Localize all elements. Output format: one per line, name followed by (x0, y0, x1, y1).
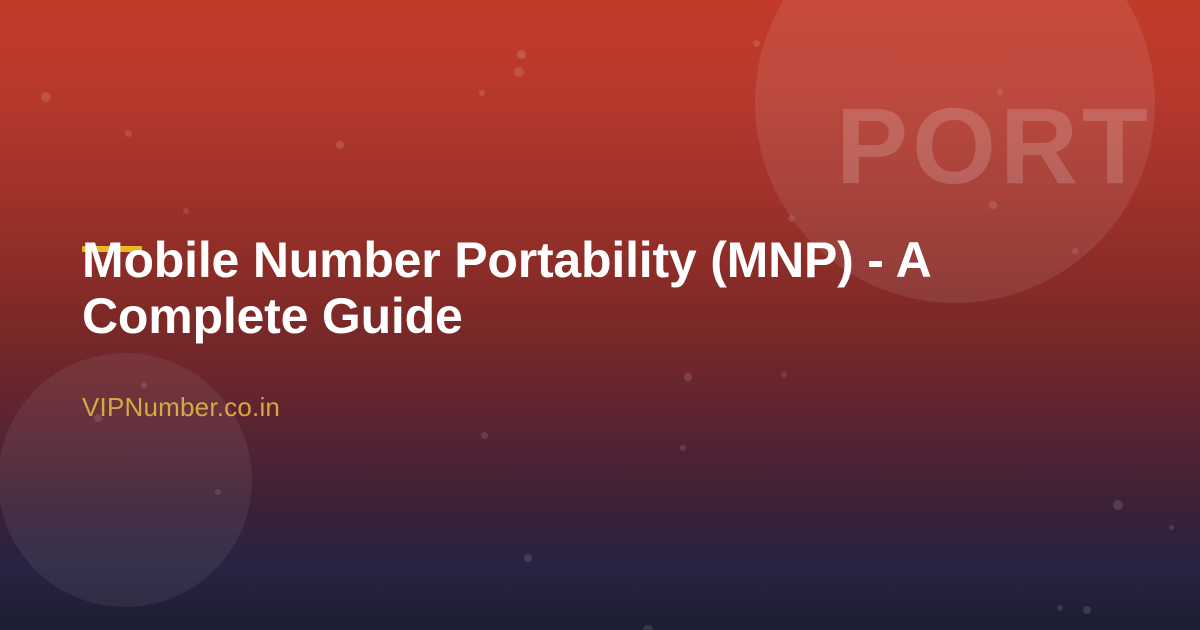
particle-dot (781, 372, 787, 378)
particle-dot (680, 445, 686, 451)
og-card: PORT Mobile Number Portability (MNP) - A… (0, 0, 1200, 630)
particle-dot (479, 90, 485, 96)
particle-dot (1113, 500, 1123, 510)
particle-dot (141, 382, 147, 388)
particle-dot (788, 215, 795, 222)
particle-dot (41, 92, 51, 102)
particle-dot (1057, 605, 1063, 611)
particle-dot (215, 489, 221, 495)
particle-dot (643, 625, 653, 630)
particle-dot (1072, 248, 1078, 254)
particle-dot (1169, 525, 1174, 530)
particle-dot (684, 373, 692, 381)
particle-dot (481, 432, 488, 439)
particle-dot (514, 67, 524, 77)
particle-dot (336, 141, 344, 149)
particle-dot (125, 130, 132, 137)
site-branding-label: VIPNumber.co.in (82, 392, 280, 423)
particle-dot (753, 40, 760, 47)
particle-dot (517, 50, 526, 59)
page-title: Mobile Number Portability (MNP) - A Comp… (82, 232, 972, 344)
particle-dot (183, 208, 189, 214)
particle-dot (1083, 606, 1091, 614)
particle-dot (524, 554, 532, 562)
headline-block: Mobile Number Portability (MNP) - A Comp… (82, 232, 982, 344)
port-watermark-text: PORT (836, 92, 1152, 200)
